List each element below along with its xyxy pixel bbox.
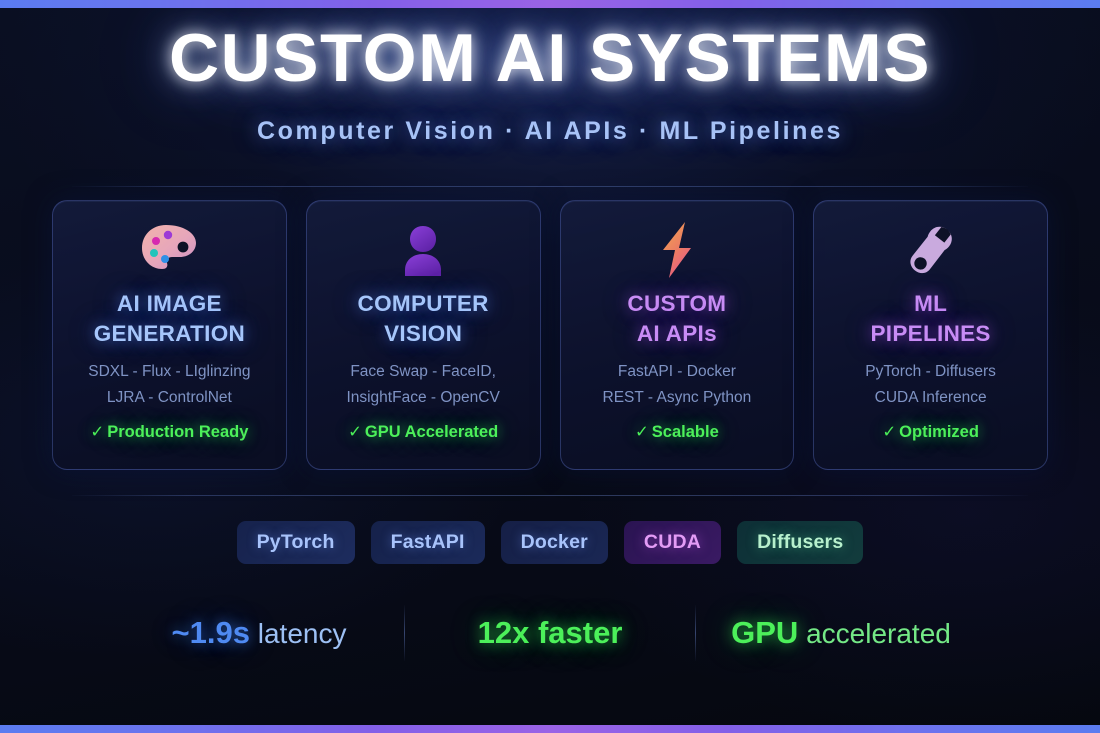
check-icon: ✓ [635,423,649,441]
page-title: CUSTOM AI SYSTEMS [0,24,1100,93]
wrench-icon [824,217,1037,283]
card-status-badge: ✓Optimized [824,422,1037,442]
card-status-badge: ✓GPU Accelerated [317,422,530,442]
stat-latency: ~1.9s latency [114,615,404,651]
tech-badge-pytorch[interactable]: PyTorch [237,521,355,564]
poster-root: CUSTOM AI SYSTEMS Computer Vision · AI A… [0,0,1100,733]
stat-label: accelerated [798,618,951,649]
header: CUSTOM AI SYSTEMS Computer Vision · AI A… [0,24,1100,146]
feature-card-ml-pipelines[interactable]: ML PIPELINES PyTorch - Diffusers CUDA In… [813,200,1048,470]
palette-icon [63,217,276,283]
card-badge-label: Scalable [652,423,719,441]
card-title: CUSTOM AI APIs [571,289,784,349]
card-title: COMPUTER VISION [317,289,530,349]
card-title: ML PIPELINES [824,289,1037,349]
divider-below-cards [72,495,1028,496]
check-icon: ✓ [348,423,362,441]
tech-badge-cuda[interactable]: CUDA [624,521,721,564]
tech-badge-row: PyTorch FastAPI Docker CUDA Diffusers [0,521,1100,564]
tech-badge-diffusers[interactable]: Diffusers [737,521,863,564]
card-title: AI IMAGE GENERATION [63,289,276,349]
stat-value: ~1.9s [172,615,250,650]
card-badge-label: Production Ready [107,423,248,441]
stats-row: ~1.9s latency 12x faster GPU accelerated [0,605,1100,661]
card-description: SDXL - Flux - LIglinzing LJRA - ControlN… [63,359,276,410]
divider-above-cards [72,186,1028,187]
page-subtitle: Computer Vision · AI APIs · ML Pipelines [0,117,1100,146]
stat-speed: 12x faster [405,615,695,651]
card-description: FastAPI - Docker REST - Async Python [571,359,784,410]
tech-badge-docker[interactable]: Docker [501,521,608,564]
stat-value: 12x [478,615,530,650]
stat-value: GPU [731,615,798,650]
bottom-accent-strip [0,725,1100,733]
feature-card-row: AI IMAGE GENERATION SDXL - Flux - LIglin… [52,200,1048,470]
tech-badge-fastapi[interactable]: FastAPI [371,521,485,564]
stat-gpu: GPU accelerated [696,615,986,651]
card-status-badge: ✓Production Ready [63,422,276,442]
feature-card-ai-image-generation[interactable]: AI IMAGE GENERATION SDXL - Flux - LIglin… [52,200,287,470]
person-icon [317,217,530,283]
stat-label: faster [529,615,622,650]
top-accent-strip [0,0,1100,8]
feature-card-computer-vision[interactable]: COMPUTER VISION Face Swap - FaceID, Insi… [306,200,541,470]
card-badge-label: Optimized [899,423,979,441]
lightning-bolt-icon [571,217,784,283]
feature-card-custom-ai-apis[interactable]: CUSTOM AI APIs FastAPI - Docker REST - A… [560,200,795,470]
check-icon: ✓ [90,423,104,441]
check-icon: ✓ [882,423,896,441]
card-badge-label: GPU Accelerated [365,423,498,441]
card-description: PyTorch - Diffusers CUDA Inference [824,359,1037,410]
stat-label: latency [250,618,347,649]
card-status-badge: ✓Scalable [571,422,784,442]
card-description: Face Swap - FaceID, InsightFace - OpenCV [317,359,530,410]
